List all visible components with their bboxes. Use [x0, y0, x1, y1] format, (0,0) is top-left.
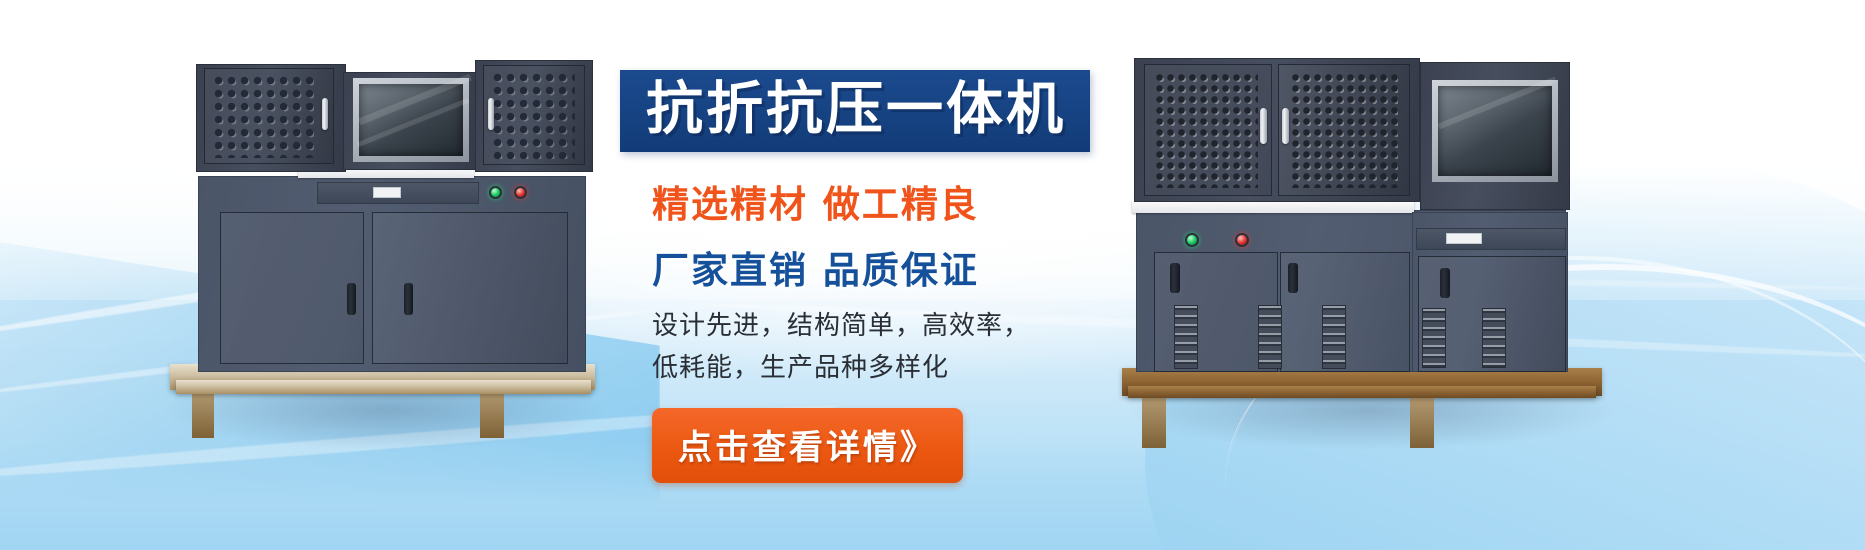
view-details-button[interactable]: 点击查看详情》 [652, 408, 963, 483]
right-side-door-handle [1440, 268, 1450, 298]
left-pallet-leg-2 [480, 390, 504, 438]
right-side-vent-2 [1482, 308, 1506, 368]
left-pallet-leg-1 [192, 390, 214, 438]
left-top-right-handle [488, 98, 494, 130]
left-drawer-label [373, 187, 401, 198]
title-banner: 抗折抗压一体机 [620, 70, 1090, 152]
right-top-door-2-handle [1282, 108, 1289, 144]
right-top-door-1-perforation [1154, 72, 1258, 188]
right-pallet-leg-2 [1410, 396, 1434, 448]
right-lower-door-2-vent [1258, 305, 1282, 369]
product-image-left[interactable] [150, 40, 610, 450]
left-top-left-perforation [212, 74, 314, 158]
left-indicator-light-green [489, 186, 502, 199]
left-pallet-bottom [176, 380, 591, 394]
right-top-door-2-perforation [1290, 72, 1398, 188]
promo-banner: 抗折抗压一体机 精选精材 做工精良 厂家直销 品质保证 设计先进，结构简单，高效… [0, 0, 1865, 550]
right-lower-door-1-handle [1170, 263, 1180, 293]
left-lower-door-1-handle [347, 283, 356, 315]
right-indicator-light-green [1185, 233, 1199, 247]
right-side-drawer-label [1446, 233, 1482, 244]
right-lower-door-3-vent [1322, 305, 1346, 369]
right-lower-door-2-handle [1288, 263, 1298, 293]
left-top-left-handle [322, 98, 328, 130]
right-indicator-light-red [1235, 233, 1249, 247]
right-top-door-1-handle [1260, 108, 1267, 144]
product-image-right[interactable] [1110, 30, 1630, 450]
left-lower-door-2-handle [404, 283, 413, 315]
right-pallet-bottom [1128, 386, 1596, 398]
right-side-vent-1 [1422, 308, 1446, 368]
left-lower-door-1 [220, 212, 364, 364]
right-lower-door-1-vent [1174, 305, 1198, 369]
right-side-drawer-panel [1416, 228, 1566, 250]
left-top-right-perforation [491, 71, 575, 159]
page-title: 抗折抗压一体机 [646, 80, 1066, 138]
left-lower-door-2 [372, 212, 568, 364]
right-pallet-leg-1 [1142, 396, 1166, 448]
left-indicator-light-red [514, 186, 527, 199]
